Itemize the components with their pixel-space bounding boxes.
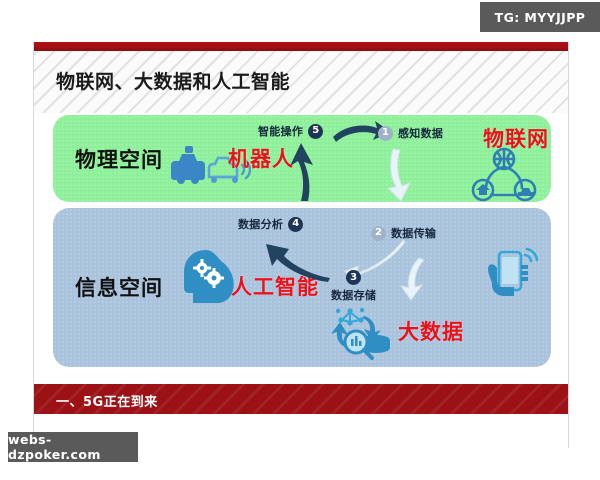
step-3-data-storage: 3 数据存储 [331,270,376,303]
zone-label-physical-space: 物理空间 [75,144,163,174]
slide-title-band: 物联网、大数据和人工智能 [34,51,568,113]
tech-label-big-data: 大数据 [398,316,464,346]
step-4-label: 数据分析 [238,216,283,232]
arrow-step3-downward [397,256,427,302]
zone-physical-space: 物理空间 机器人 [53,115,551,202]
step-5-badge: 5 [308,124,323,139]
hand-phone-wifi-icon [477,240,547,310]
ai-head-gears-icon [176,246,238,308]
step-3-badge: 3 [346,270,361,285]
footer-heading: 一、5G正在到来 [56,391,158,410]
step-3-label: 数据存储 [331,287,376,303]
arrow-step1-downward [383,147,417,203]
iot-network-icon [467,147,541,202]
step-4-data-analysis: 数据分析 4 [238,216,303,232]
step-5-label: 智能操作 [258,123,303,139]
big-data-cloud-icon [328,306,400,362]
step-5-intelligent-operation: 智能操作 5 [258,123,323,139]
watermark-bottom-left: webs-dzpoker.com [8,432,138,462]
arrow-step5-upward [281,141,321,203]
zone-information-space: 信息空间 数据分析 4 2 数据传输 [53,208,551,367]
watermark-top-right: TG: MYYJJPP [480,2,600,32]
slide-frame: 物联网、大数据和人工智能 物理空间 [33,42,569,448]
slide-top-red-bar [34,42,568,51]
step-4-badge: 4 [288,217,303,232]
step-1-label: 感知数据 [398,125,443,141]
step-1-sense-data: 1 感知数据 [378,125,443,141]
arrow-step3-to-step4 [258,236,332,282]
page-title: 物联网、大数据和人工智能 [56,67,290,94]
step-1-badge: 1 [378,126,393,141]
zone-label-information-space: 信息空间 [75,272,163,302]
slide-footer-bar: 一、5G正在到来 [34,384,568,414]
screenshot-root: TG: MYYJJPP 物联网、大数据和人工智能 物理空间 [0,0,600,480]
